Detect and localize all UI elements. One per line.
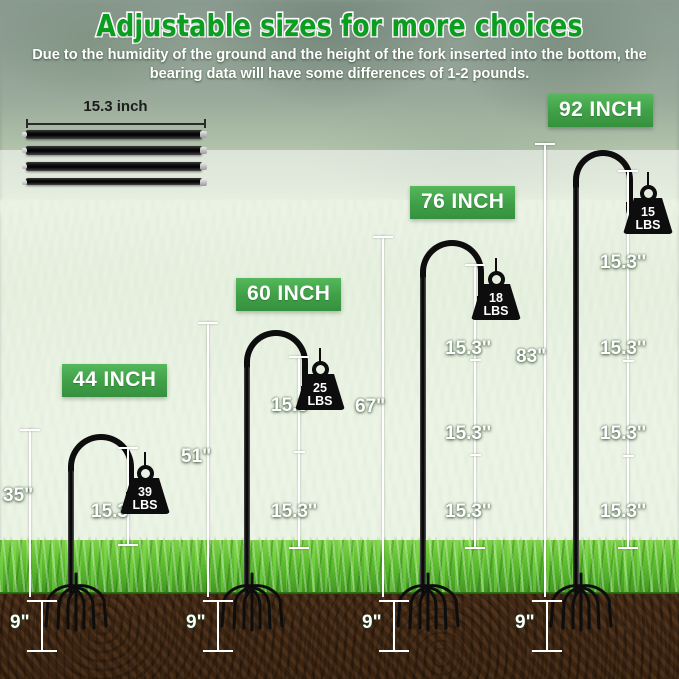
measure-stem — [544, 143, 546, 597]
depth-tick-bottom — [379, 650, 409, 652]
depth-stem — [546, 600, 548, 652]
size-badge-44-inch[interactable]: 44 INCH — [62, 364, 167, 397]
depth-label-60: 9" — [186, 612, 206, 634]
rod-segment — [26, 162, 202, 171]
measure-tick-top — [20, 429, 40, 431]
measure-label-60-segment-2: 15.3'' — [271, 501, 317, 523]
measure-tick-bottom — [118, 544, 138, 546]
weight-value: 39 — [138, 486, 152, 499]
size-badge-76-inch[interactable]: 76 INCH — [410, 186, 515, 219]
pole-shaft — [573, 186, 579, 595]
size-badge-92-inch[interactable]: 92 INCH — [548, 94, 653, 127]
measure-tick-top — [535, 143, 555, 145]
page-title: Adjustable sizes for more choices — [20, 9, 658, 44]
measure-label-76-segment-1: 15.3'' — [445, 338, 491, 360]
depth-stem — [41, 600, 43, 652]
measure-tick-top — [198, 322, 218, 324]
dimension-cap-left — [26, 119, 28, 128]
depth-label-44: 9" — [10, 612, 30, 634]
dimension-cap-right — [204, 119, 206, 128]
measure-stem — [29, 429, 31, 597]
measure-label-92-segment-2: 15.3'' — [600, 338, 646, 360]
weight-value: 25 — [313, 382, 327, 395]
depth-stem — [217, 600, 219, 652]
measure-tick-mid — [294, 451, 305, 453]
size-badge-60-inch[interactable]: 60 INCH — [236, 278, 341, 311]
measure-tick-top — [373, 236, 393, 238]
measure-tick-top — [465, 264, 485, 266]
depth-stem — [393, 600, 395, 652]
measure-tick-mid — [623, 455, 634, 457]
page-subtitle: Due to the humidity of the ground and th… — [24, 46, 655, 84]
depth-tick-bottom — [27, 650, 57, 652]
measure-label-92-segment-1: 15.3'' — [600, 252, 646, 274]
depth-label-76: 9" — [362, 612, 382, 634]
measure-label-44-total: 35" — [3, 485, 33, 507]
weight-value: 15 — [641, 206, 655, 219]
measure-label-76-segment-3: 15.3'' — [445, 501, 491, 523]
measure-label-92-segment-3: 15.3'' — [600, 423, 646, 445]
depth-label-92: 9" — [515, 612, 535, 634]
measure-tick-mid — [470, 454, 481, 456]
weight-unit: LBS — [484, 305, 509, 318]
weight-unit: LBS — [308, 395, 333, 408]
measure-tick-top — [289, 356, 309, 358]
pole-shaft — [244, 366, 250, 595]
measure-tick-bottom — [289, 547, 309, 549]
rod-segment — [26, 146, 202, 155]
measure-label-76-segment-2: 15.3'' — [445, 423, 491, 445]
rod-segments-diagram: 15.3 inch — [18, 98, 213, 190]
depth-tick-top — [203, 600, 233, 602]
depth-tick-top — [379, 600, 409, 602]
measure-label-60-total: 51" — [181, 446, 211, 468]
measure-tick-top — [618, 170, 638, 172]
measure-tick-bottom — [465, 547, 485, 549]
weight-value: 18 — [489, 292, 503, 305]
depth-tick-top — [532, 600, 562, 602]
dimension-line — [26, 123, 206, 125]
measure-tick-mid — [623, 360, 634, 362]
depth-tick-bottom — [532, 650, 562, 652]
rod-dimension-bar — [26, 119, 206, 128]
rod-segment — [26, 130, 202, 139]
rod-segment — [26, 178, 202, 185]
weight-unit: LBS — [133, 499, 158, 512]
measure-label-92-total: 83" — [516, 346, 546, 368]
measure-tick-top — [118, 447, 138, 449]
measure-label-92-segment-4: 15.3'' — [600, 501, 646, 523]
depth-tick-top — [27, 600, 57, 602]
depth-tick-bottom — [203, 650, 233, 652]
rod-length-label: 15.3 inch — [18, 98, 213, 115]
pole-shaft — [420, 276, 426, 595]
weight-unit: LBS — [636, 219, 661, 232]
measure-label-76-total: 67" — [355, 396, 385, 418]
measure-tick-bottom — [618, 547, 638, 549]
